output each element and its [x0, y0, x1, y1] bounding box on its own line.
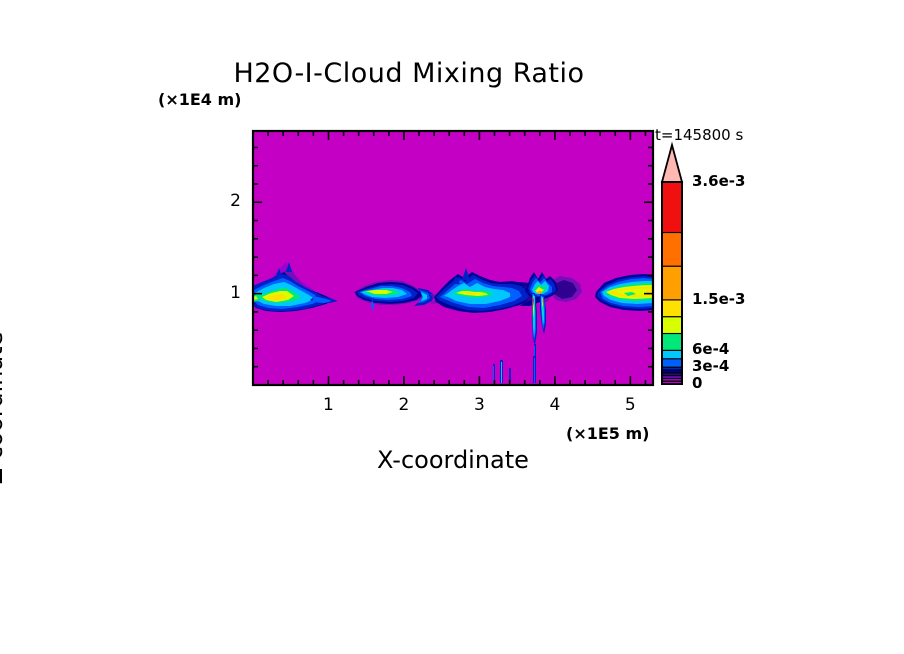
x-tick-label: 5	[610, 395, 650, 415]
colorbar	[662, 145, 682, 384]
colorbar-tick-label: 0	[692, 374, 702, 392]
figure-root: H2O-I-Cloud Mixing Ratio (×1E4 m) (×1E5 …	[0, 0, 904, 654]
colorbar-band	[662, 300, 682, 317]
colorbar-band	[662, 317, 682, 334]
colorbar-tick-label: 3.6e-3	[692, 172, 745, 190]
colorbar-tick-label: 1.5e-3	[692, 290, 745, 308]
colorbar-top-arrow	[662, 145, 682, 182]
colorbar-band	[662, 359, 682, 367]
colorbar-band	[662, 182, 682, 233]
colorbar-band	[662, 233, 682, 267]
x-tick-label: 1	[308, 395, 348, 415]
plot-background	[253, 131, 653, 385]
colorbar-band	[662, 334, 682, 351]
x-tick-label: 2	[384, 395, 424, 415]
colorbar-tick-label: 6e-4	[692, 340, 729, 358]
y-tick-label: 2	[207, 191, 241, 211]
y-tick-label: 1	[207, 283, 241, 303]
colorbar-tick-label: 3e-4	[692, 357, 729, 375]
contour-plot	[0, 0, 904, 654]
colorbar-band	[662, 266, 682, 300]
x-tick-label: 4	[535, 395, 575, 415]
colorbar-band	[662, 350, 682, 358]
x-tick-label: 3	[459, 395, 499, 415]
